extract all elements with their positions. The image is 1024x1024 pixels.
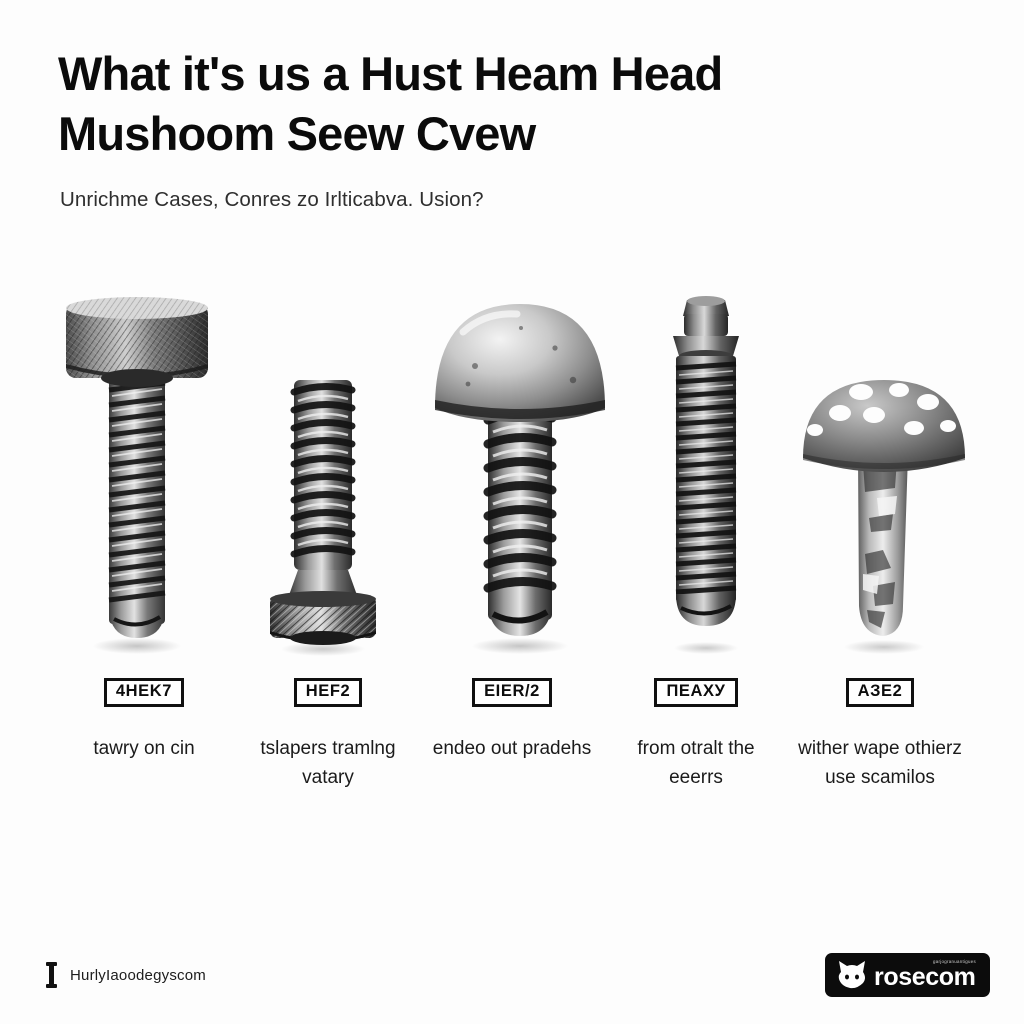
long-thin-threaded-stud-icon	[651, 294, 761, 656]
specimen-row	[0, 226, 1024, 656]
infographic-page: What it's us a Hust Heam Head Mushoom Se…	[0, 0, 1024, 1024]
status-badge: ПEАХУ	[654, 678, 737, 706]
specimen-1	[52, 256, 222, 656]
mushroom-dome-head-screw-icon	[425, 288, 615, 656]
logo-micro-text: garjogranuantigues	[933, 959, 976, 964]
status-badge: AЗE2	[846, 678, 915, 706]
caption-label: tslapers tramlng vatary	[241, 735, 416, 793]
specimen-3	[425, 256, 615, 656]
footer-left: HurlyIaoodegyscom	[46, 962, 206, 989]
page-title: What it's us a Hust Heam Head Mushoom Se…	[58, 44, 888, 164]
spotted-mushroom-icon	[797, 368, 972, 656]
inverted-knurled-screw-icon	[258, 366, 388, 656]
caption-label: endeo out pradehs	[433, 735, 591, 764]
caption-label: from otralt the eeerrs	[609, 735, 784, 793]
footer-source-text: HurlyIaoodegyscom	[70, 967, 206, 984]
cat-head-icon	[836, 960, 868, 990]
caption-col-2: HEF2 tslapers tramlng vatary	[236, 678, 420, 792]
header: What it's us a Hust Heam Head Mushoom Se…	[0, 0, 1024, 212]
knurled-head-thumb-screw-icon	[52, 286, 222, 656]
bolt-icon	[46, 962, 57, 989]
specimen-4	[651, 256, 761, 656]
status-badge: EIER/2	[472, 678, 552, 706]
logo-badge[interactable]: rosecom garjogranuantigues	[825, 953, 990, 997]
status-badge: 4HEK7	[104, 678, 184, 706]
page-subtitle: Unrichme Cases, Conres zo Irlticabva. Us…	[60, 188, 968, 212]
caption-label: tawry on cin	[93, 735, 194, 764]
caption-col-1: 4HEK7 tawry on cin	[52, 678, 236, 792]
status-badge: HEF2	[294, 678, 363, 706]
caption-col-3: EIER/2 endeo out pradehs	[420, 678, 604, 792]
caption-row: 4HEK7 tawry on cin HEF2 tslapers tramlng…	[0, 678, 1024, 792]
logo-wordmark: rosecom	[874, 965, 975, 990]
caption-label: wither wape othierz use scamilos	[793, 735, 968, 793]
specimen-5	[797, 256, 972, 656]
specimen-2	[258, 256, 388, 656]
caption-col-5: AЗE2 wither wape othierz use scamilos	[788, 678, 972, 792]
footer: HurlyIaoodegyscom rosecom garjogranuanti…	[0, 944, 1024, 1006]
caption-col-4: ПEАХУ from otralt the eeerrs	[604, 678, 788, 792]
